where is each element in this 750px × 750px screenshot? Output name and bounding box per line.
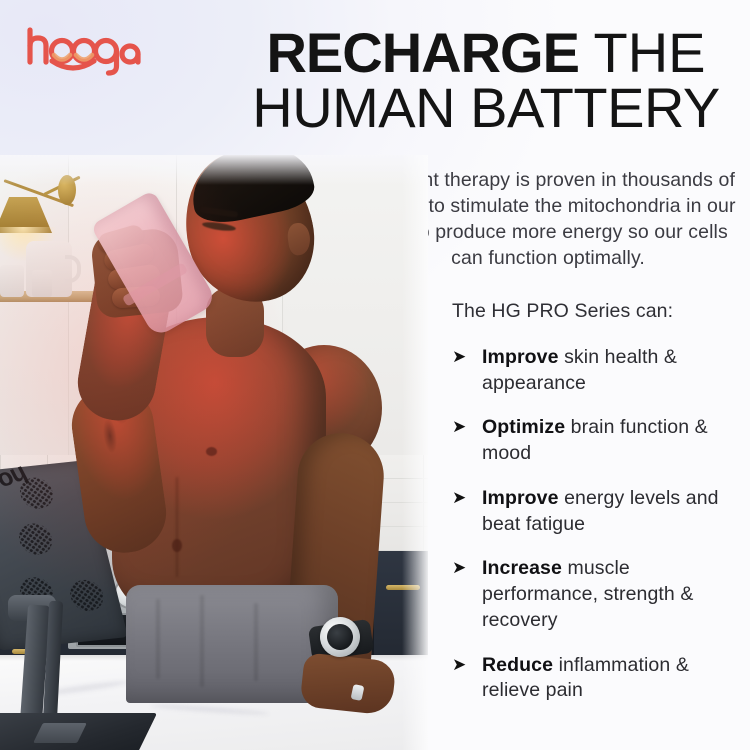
list-item-text: Optimize brain function & mood <box>482 415 744 466</box>
list-item-text: Improve energy levels and beat fatigue <box>482 486 744 537</box>
hooga-logo <box>24 24 144 76</box>
headline-bold: RECHARGE <box>266 21 578 84</box>
arrow-bullet-icon: ➤ <box>452 345 482 368</box>
headline-the: THE <box>579 21 706 84</box>
list-item: ➤ Improve energy levels and beat fatigue <box>452 486 744 537</box>
list-item: ➤ Reduce inflammation & relieve pain <box>452 653 744 704</box>
poster-canvas: RECHARGE THE HUMAN BATTERY Red light the… <box>0 0 750 750</box>
arrow-bullet-icon: ➤ <box>452 653 482 676</box>
hand-on-counter <box>299 652 396 715</box>
list-item: ➤ Optimize brain function & mood <box>452 415 744 466</box>
arrow-bullet-icon: ➤ <box>452 415 482 438</box>
list-item-emphasis: Improve <box>482 346 559 368</box>
benefits-list: ➤ Improve skin health & appearance ➤ Opt… <box>452 345 744 723</box>
headline-line2: HUMAN BATTERY <box>236 81 736 136</box>
page-title: RECHARGE THE HUMAN BATTERY <box>236 26 736 136</box>
list-item-emphasis: Reduce <box>482 654 553 676</box>
arrow-bullet-icon: ➤ <box>452 486 482 509</box>
list-item-emphasis: Improve <box>482 487 559 509</box>
ceramic-jar <box>0 265 24 297</box>
benefits-subhead: The HG PRO Series can: <box>452 300 673 323</box>
list-item-emphasis: Increase <box>482 557 562 579</box>
list-item-text: Reduce inflammation & relieve pain <box>482 653 744 704</box>
list-item-text: Improve skin health & appearance <box>482 345 744 396</box>
arrow-bullet-icon: ➤ <box>452 556 482 579</box>
list-item-emphasis: Optimize <box>482 416 565 438</box>
person-subject <box>34 155 394 747</box>
list-item-text: Increase muscle performance, strength & … <box>482 556 744 633</box>
list-item: ➤ Improve skin health & appearance <box>452 345 744 396</box>
lifestyle-photo: hooga <box>0 155 428 750</box>
list-item: ➤ Increase muscle performance, strength … <box>452 556 744 633</box>
